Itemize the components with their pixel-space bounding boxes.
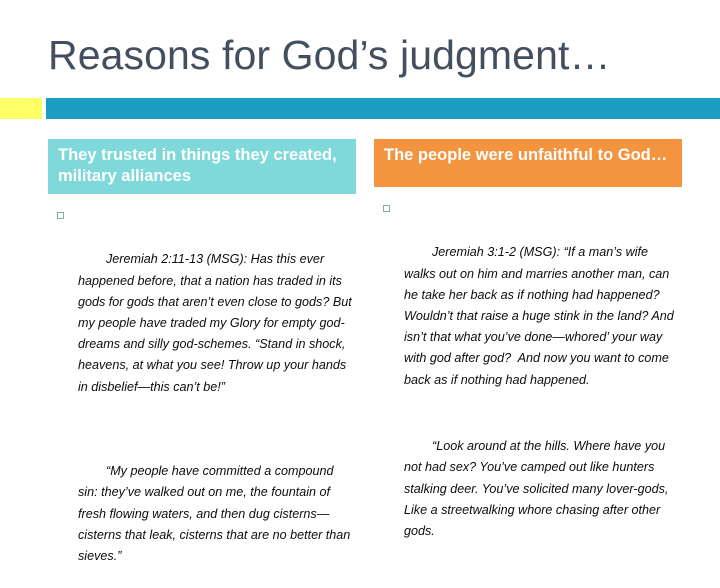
page-title: Reasons for God’s judgment… xyxy=(48,30,698,80)
column-body-left: Jeremiah 2:11-13 (MSG): Has this ever ha… xyxy=(48,207,356,588)
list-item: Jeremiah 2:11-13 (MSG): Has this ever ha… xyxy=(48,207,356,419)
slide-canvas: Reasons for God’s judgment… They trusted… xyxy=(0,0,720,540)
list-item: “Look around at the hills. Where have yo… xyxy=(374,415,682,563)
content-column-right: The people were unfaithful to God… Jerem… xyxy=(374,139,682,563)
column-header-right: The people were unfaithful to God… xyxy=(374,139,682,187)
column-header-left: They trusted in things they created, mil… xyxy=(48,139,356,194)
hollow-square-bullet-icon xyxy=(383,205,390,212)
list-item-text: Jeremiah 2:11-13 (MSG): Has this ever ha… xyxy=(78,252,355,393)
content-column-left: They trusted in things they created, mil… xyxy=(48,139,356,588)
list-item-text: “My people have committed a compound sin… xyxy=(78,464,354,563)
accent-bar-teal xyxy=(46,98,720,119)
column-body-right: Jeremiah 3:1-2 (MSG): “If a man’s wife w… xyxy=(374,200,682,563)
list-item: Jeremiah 3:1-2 (MSG): “If a man’s wife w… xyxy=(374,200,682,412)
list-item-text: Jeremiah 3:1-2 (MSG): “If a man’s wife w… xyxy=(404,245,677,386)
list-item: “My people have committed a compound sin… xyxy=(48,440,356,588)
hollow-square-bullet-icon xyxy=(57,212,64,219)
accent-block-yellow xyxy=(0,98,42,119)
list-item-text: “Look around at the hills. Where have yo… xyxy=(404,439,672,538)
